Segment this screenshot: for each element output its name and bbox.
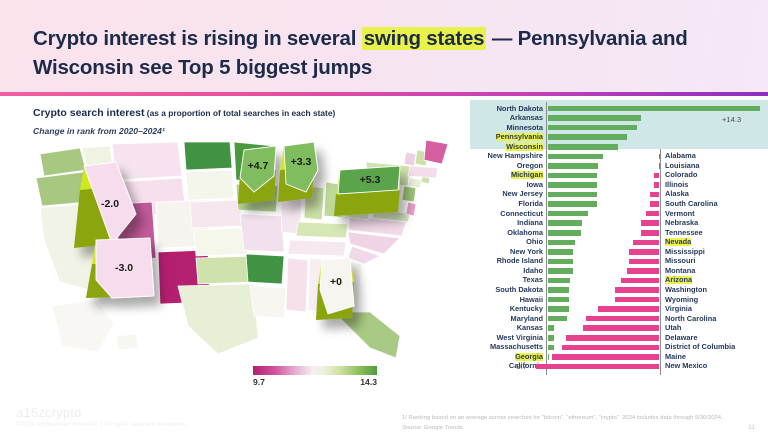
chart-bar-georgia [548, 354, 549, 360]
chart-label-south-dakota: South Dakota [495, 286, 543, 294]
chart-label-new-mexico: New Mexico [665, 362, 707, 370]
rank-change-bar-chart: North DakotaArkansasMinnesotaPennsylvani… [470, 96, 768, 399]
chart-label-hawaii: Hawaii [520, 296, 543, 304]
chart-bar-alaska [650, 192, 659, 198]
chart-bar-new-hampshire [548, 154, 603, 160]
chart-label-new-hampshire: New Hampshire [488, 152, 543, 160]
state-connecticut [408, 178, 422, 188]
chart-label-montana: Montana [665, 267, 695, 275]
chart-left-axis [546, 102, 547, 375]
map-subsubtitle: Change in rank from 2020–2024¹ [33, 126, 165, 136]
state-alaska [52, 300, 114, 352]
map-subtitle-bold: Crypto search interest [33, 107, 144, 119]
chart-bar-north-dakota [548, 106, 760, 112]
a16zcrypto-logo: a16zcrypto [16, 405, 82, 420]
chart-label-new-york: New York [510, 248, 543, 256]
chart-bar-new-york [548, 249, 573, 255]
state-kentucky [296, 222, 348, 238]
chart-label-alabama: Alabama [665, 152, 696, 160]
chart-bar-colorado [654, 173, 659, 179]
chart-bar-kansas [548, 325, 554, 331]
chart-label-colorado: Colorado [665, 171, 697, 179]
chart-label-minnesota: Minnesota [506, 124, 543, 132]
chart-bar-louisiana [659, 163, 660, 169]
state-nebraska [190, 200, 242, 228]
state-arkansas [246, 254, 284, 284]
chart-bar-montana [627, 268, 659, 274]
title-highlight-swing-states: swing states [362, 27, 487, 50]
chart-label-maryland: Maryland [511, 315, 543, 323]
state-louisiana [250, 286, 286, 318]
state-new-jersey [402, 186, 416, 202]
chart-label-vermont: Vermont [665, 210, 695, 218]
footnote-text: 1/ Ranking based on an average across se… [402, 413, 732, 434]
chart-label-wisconsin: Wisconsin [506, 143, 543, 151]
chart-label-kentucky: Kentucky [510, 305, 543, 313]
chart-label-massachusetts: Massachusetts [490, 343, 543, 351]
chart-max-value-label: +14.3 [722, 115, 741, 124]
chart-label-arizona: Arizona [665, 276, 692, 284]
state-north-dakota [184, 142, 232, 170]
chart-label-ohio: Ohio [526, 238, 543, 246]
chart-label-texas: Texas [523, 276, 543, 284]
chart-bar-massachusetts [548, 345, 554, 351]
map-panel: Crypto search interest (as a proportion … [0, 96, 470, 399]
state-mississippi [286, 258, 308, 312]
chart-label-rhode-island: Rhode Island [497, 257, 543, 265]
chart-bar-tennessee [641, 230, 659, 236]
chart-bar-alabama [659, 154, 660, 160]
chart-bar-nevada [633, 240, 658, 246]
chart-label-new-jersey: New Jersey [502, 190, 543, 198]
chart-label-missouri: Missouri [665, 257, 695, 265]
chart-label-nebraska: Nebraska [665, 219, 698, 227]
map-subtitle: Crypto search interest (as a proportion … [33, 107, 335, 119]
map-color-legend: 9.7 14.3 [253, 366, 393, 387]
title-text-part1: Crypto interest is rising in several [33, 27, 362, 50]
chart-bar-arizona [621, 278, 659, 284]
chart-bar-nebraska [641, 220, 659, 226]
chart-bar-south-dakota [548, 287, 569, 293]
legend-min-label: 9.7 [253, 377, 265, 387]
map-value-pennsylvania: +5.3 [360, 174, 381, 186]
map-value-michigan: +3.3 [291, 156, 312, 168]
legend-tick-labels: 9.7 14.3 [253, 377, 377, 387]
chart-bar-oklahoma [548, 230, 581, 236]
chart-bar-north-carolina [586, 316, 658, 322]
chart-bar-utah [583, 325, 659, 331]
chart-label-nevada: Nevada [665, 238, 691, 246]
legend-max-label: 14.3 [360, 377, 377, 387]
state-tennessee [288, 240, 346, 256]
chart-label-delaware: Delaware [665, 334, 697, 342]
state-massachusetts [408, 166, 438, 178]
chart-label-alaska: Alaska [665, 190, 689, 198]
chart-label-maine: Maine [665, 353, 686, 361]
chart-label-kansas: Kansas [517, 324, 543, 332]
chart-label-west-virginia: West Virginia [496, 334, 543, 342]
chart-bar-oregon [548, 163, 598, 169]
chart-label-washington: Washington [665, 286, 707, 294]
state-south-dakota [186, 170, 234, 200]
state-texas [178, 284, 258, 354]
chart-bar-south-carolina [650, 201, 659, 207]
chart-label-oklahoma: Oklahoma [507, 229, 543, 237]
raised-state-michigan [278, 142, 318, 202]
chart-label-indiana: Indiana [517, 219, 543, 227]
header-banner: Crypto interest is rising in several swi… [0, 0, 768, 96]
chart-bar-pennsylvania [548, 134, 627, 140]
raised-state-wisconsin [238, 146, 276, 204]
legend-gradient-bar [253, 366, 377, 375]
chart-label-wyoming: Wyoming [665, 296, 698, 304]
chart-label-georgia: Georgia [515, 353, 543, 361]
chart-bar-virginia [598, 306, 659, 312]
chart-label-connecticut: Connecticut [500, 210, 543, 218]
chart-label-district-of-columbia: District of Columbia [665, 343, 735, 351]
us-choropleth-map: -2.0 -3.0 +4.7 +3.3 +5.3 +0 [18, 140, 458, 390]
state-maine [424, 140, 448, 164]
chart-bar-indiana [548, 220, 582, 226]
chart-label-louisiana: Louisiana [665, 162, 700, 170]
raised-state-georgia [316, 258, 354, 320]
chart-bar-mississippi [629, 249, 658, 255]
chart-bar-kentucky [548, 306, 569, 312]
state-missouri [240, 214, 284, 252]
state-oklahoma [196, 256, 254, 284]
chart-label-north-carolina: North Carolina [665, 315, 716, 323]
page-number: 11 [748, 424, 755, 431]
map-value-georgia: +0 [330, 276, 342, 288]
chart-label-idaho: Idaho [523, 267, 543, 275]
chart-bar-missouri [629, 259, 658, 265]
chart-bar-maryland [548, 316, 567, 322]
chart-label-illinois: Illinois [665, 181, 688, 189]
state-delaware [406, 202, 416, 216]
chart-plot-area: North DakotaArkansasMinnesotaPennsylvani… [470, 96, 768, 399]
chart-label-iowa: Iowa [527, 181, 543, 189]
footnote-line-2: Source: Google Trends. [402, 423, 732, 433]
chart-bar-minnesota [548, 125, 637, 131]
map-subtitle-paren: (as a proportion of total searches in ea… [144, 108, 335, 118]
chart-bar-district-of-columbia [562, 345, 658, 351]
chart-bar-wyoming [615, 297, 658, 303]
state-montana [112, 142, 182, 180]
chart-bar-texas [548, 278, 570, 284]
chart-bar-hawaii [548, 297, 569, 303]
chart-bar-iowa [548, 182, 597, 188]
state-vermont [404, 152, 416, 166]
chart-bar-maine [552, 354, 659, 360]
chart-label-pennsylvania: Pennsylvania [496, 133, 543, 141]
chart-label-michigan: Michigan [511, 171, 543, 179]
state-washington [40, 148, 86, 176]
chart-bar-washington [615, 287, 658, 293]
chart-label-oregon: Oregon [517, 162, 543, 170]
chart-bar-rhode-island [548, 259, 573, 265]
map-value-nevada: -2.0 [101, 198, 119, 210]
copyright-text: ©2024 Andreessen Horowitz. | All rights … [16, 421, 187, 428]
chart-label-arkansas: Arkansas [510, 114, 543, 122]
chart-bar-new-mexico [536, 364, 659, 370]
chart-label-tennessee: Tennessee [665, 229, 703, 237]
chart-bar-wisconsin [548, 144, 618, 150]
chart-bar-florida [548, 201, 597, 207]
state-florida [334, 312, 400, 358]
chart-bar-michigan [548, 173, 597, 179]
footer: a16zcrypto ©2024 Andreessen Horowitz. | … [0, 399, 768, 443]
chart-label-north-dakota: North Dakota [497, 105, 543, 113]
chart-right-axis [660, 149, 661, 375]
chart-bar-illinois [654, 182, 659, 188]
chart-label-mississippi: Mississippi [665, 248, 705, 256]
state-kansas [194, 228, 248, 256]
chart-label-florida: Florida [518, 200, 543, 208]
page-title: Crypto interest is rising in several swi… [33, 24, 733, 82]
chart-bar-connecticut [548, 211, 588, 217]
footnote-line-1: 1/ Ranking based on an average across se… [402, 413, 732, 423]
chart-bar-ohio [548, 240, 575, 246]
chart-bar-arkansas [548, 115, 641, 121]
state-hawaii [116, 334, 138, 350]
chart-bar-idaho [548, 268, 573, 274]
chart-bar-delaware [566, 335, 659, 341]
chart-bar-new-jersey [548, 192, 597, 198]
map-value-arizona: -3.0 [115, 262, 133, 274]
map-svg: -2.0 -3.0 +4.7 +3.3 +5.3 +0 [18, 140, 458, 390]
chart-label-virginia: Virginia [665, 305, 692, 313]
map-value-wisconsin: +4.7 [248, 160, 269, 172]
chart-label-utah: Utah [665, 324, 681, 332]
chart-label-south-carolina: South Carolina [665, 200, 718, 208]
chart-bar-vermont [646, 211, 659, 217]
chart-bar-west-virginia [548, 335, 554, 341]
chart-min-value-label: -9.7 [514, 362, 527, 371]
